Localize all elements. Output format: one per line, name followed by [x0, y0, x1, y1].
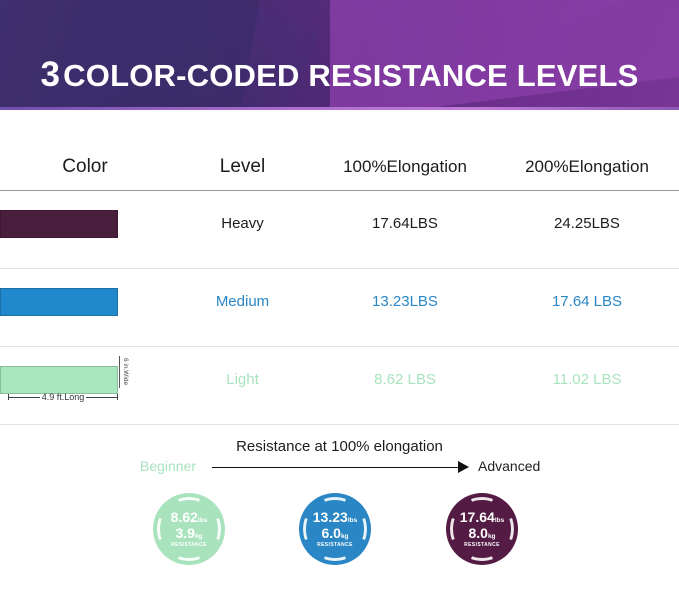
table-header-row: Color Level 100%Elongation 200%Elongatio… — [0, 110, 679, 178]
color-swatch-light — [0, 366, 118, 394]
dimension-line-left — [9, 397, 40, 398]
resistance-table: Color Level 100%Elongation 200%Elongatio… — [0, 110, 679, 425]
badge-kg: 6.0kg — [321, 526, 348, 541]
elongation-100-value: 13.23LBS — [315, 293, 495, 310]
badge-caption: RESISTANCE — [171, 542, 207, 548]
color-swatch-heavy — [0, 210, 118, 238]
arrow-right-icon — [458, 461, 469, 473]
badge-lbs-value: 13.23 — [313, 509, 348, 525]
badge-kg-value: 8.0 — [468, 525, 487, 541]
header-banner: 3COLOR-CODED RESISTANCE LEVELS — [0, 0, 679, 110]
dimension-width: 6 in.Wide — [122, 356, 129, 388]
resistance-badge-medium: 13.23lbs 6.0kg RESISTANCE — [299, 493, 371, 565]
product-info-page: 3COLOR-CODED RESISTANCE LEVELS Color Lev… — [0, 0, 679, 599]
badge-caption: RESISTANCE — [464, 542, 500, 548]
banner-count: 3 — [41, 55, 61, 94]
badge-lbs-value: 8.62 — [171, 509, 198, 525]
resistance-badge-heavy: 17.64lbs 8.0kg RESISTANCE — [446, 493, 518, 565]
table-row: 4.9 ft.Long 6 in.Wide Light 8.62 LBS 11.… — [0, 347, 679, 412]
color-swatch-medium — [0, 288, 118, 316]
resistance-badge-light: 8.62lbs 3.9kg RESISTANCE — [153, 493, 225, 565]
badge-lbs-unit: lbs — [348, 517, 357, 524]
badge-kg-value: 3.9 — [175, 525, 194, 541]
color-swatch-cell — [0, 269, 170, 334]
banner-title: 3COLOR-CODED RESISTANCE LEVELS — [0, 55, 679, 95]
badge-kg-value: 6.0 — [321, 525, 340, 541]
badge-kg-unit: kg — [195, 533, 203, 540]
elongation-200-value: 24.25LBS — [495, 215, 679, 232]
dimension-cap-right — [117, 394, 118, 400]
column-header-level: Level — [170, 156, 315, 178]
resistance-badges: 8.62lbs 3.9kg RESISTANCE 13.23lbs 6.0kg … — [0, 493, 679, 583]
elongation-100-value: 17.64LBS — [315, 215, 495, 232]
dimension-width-label: 6 in.Wide — [122, 358, 129, 385]
dimension-length-label: 4.9 ft.Long — [40, 392, 87, 402]
scale-label-beginner: Beginner — [140, 458, 196, 474]
banner-title-text: COLOR-CODED RESISTANCE LEVELS — [63, 58, 638, 93]
level-value: Medium — [170, 293, 315, 310]
dimension-line-right — [86, 397, 117, 398]
elongation-100-value: 8.62 LBS — [315, 371, 495, 388]
scale-label-advanced: Advanced — [478, 458, 540, 474]
badge-lbs-unit: lbs — [495, 517, 504, 524]
scale-line — [212, 467, 466, 468]
badge-kg: 8.0kg — [468, 526, 495, 541]
level-value: Light — [170, 371, 315, 388]
badge-lbs: 8.62lbs — [171, 510, 208, 525]
badge-caption: RESISTANCE — [317, 542, 353, 548]
level-value: Heavy — [170, 215, 315, 232]
column-header-elongation-100: 100%Elongation — [315, 157, 495, 177]
badge-lbs-value: 17.64 — [460, 509, 495, 525]
scale-title: Resistance at 100% elongation — [0, 438, 679, 455]
column-header-elongation-200: 200%Elongation — [495, 157, 679, 177]
color-swatch-cell — [0, 191, 170, 256]
table-row: Heavy 17.64LBS 24.25LBS — [0, 191, 679, 256]
resistance-scale-section: Resistance at 100% elongation Beginner A… — [0, 425, 679, 599]
badge-kg-unit: kg — [341, 533, 349, 540]
table-row: Medium 13.23LBS 17.64 LBS — [0, 269, 679, 334]
badge-kg: 3.9kg — [175, 526, 202, 541]
dimension-line-vertical — [119, 356, 120, 388]
badge-lbs-unit: lbs — [198, 517, 207, 524]
badge-lbs: 17.64lbs — [460, 510, 504, 525]
elongation-200-value: 11.02 LBS — [495, 371, 679, 388]
column-header-color: Color — [0, 156, 170, 178]
color-swatch-cell: 4.9 ft.Long 6 in.Wide — [0, 347, 170, 412]
elongation-200-value: 17.64 LBS — [495, 293, 679, 310]
badge-lbs: 13.23lbs — [313, 510, 357, 525]
dimension-length: 4.9 ft.Long — [8, 391, 118, 403]
badge-kg-unit: kg — [488, 533, 496, 540]
